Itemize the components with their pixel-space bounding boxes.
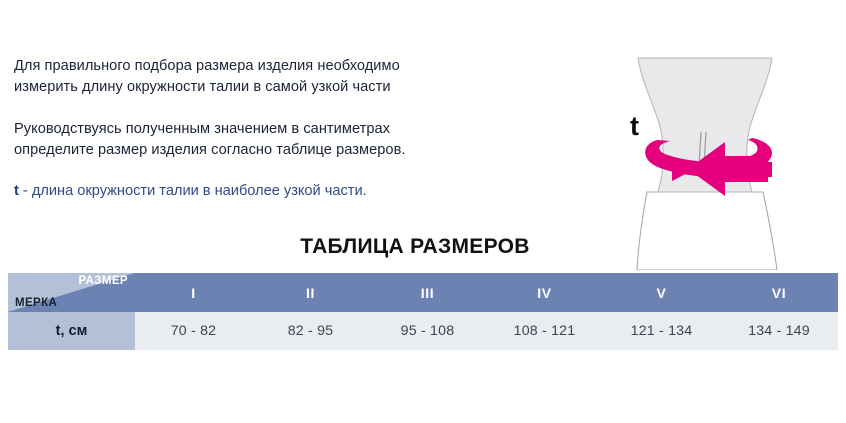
row-label-waist: t, см [8,312,135,350]
column-header-1: I [135,273,252,312]
column-header-2: II [252,273,369,312]
legend-line: t - длина окружности талии в наиболее уз… [14,181,514,202]
instruction-paragraph-2: Руководствуясь полученным значением в са… [14,119,514,161]
measure-label-t: t [630,111,639,141]
column-header-3: III [369,273,486,312]
instruction-paragraph-1: Для правильного подбора размера изделия … [14,56,514,98]
size-table-title-text: ТАБЛИЦА РАЗМЕРОВ [300,235,529,259]
column-header-4: IV [486,273,603,312]
corner-measure-label: МЕРКА [15,297,57,309]
legend-description: - длина окружности талии в наиболее узко… [19,183,367,199]
cell-size-6: 134 - 149 [720,312,838,350]
cell-size-2: 82 - 95 [252,312,369,350]
size-table-header-row: РАЗМЕР МЕРКА I II III IV V VI [8,273,838,312]
table-corner-cell: РАЗМЕР МЕРКА [8,273,135,312]
column-header-6: VI [720,273,838,312]
table-row: t, см 70 - 82 82 - 95 95 - 108 108 - 121… [8,312,838,350]
cell-size-5: 121 - 134 [603,312,720,350]
cell-size-3: 95 - 108 [369,312,486,350]
size-table-title: ТАБЛИЦА РАЗМЕРОВ [0,235,846,259]
cell-size-1: 70 - 82 [135,312,252,350]
cell-size-4: 108 - 121 [486,312,603,350]
instructions-block: Для правильного подбора размера изделия … [14,56,514,202]
column-header-5: V [603,273,720,312]
corner-size-label: РАЗМЕР [79,275,129,287]
size-table: РАЗМЕР МЕРКА I II III IV V VI t, см 70 -… [8,273,838,350]
size-chart-page: Для правильного подбора размера изделия … [0,0,846,423]
